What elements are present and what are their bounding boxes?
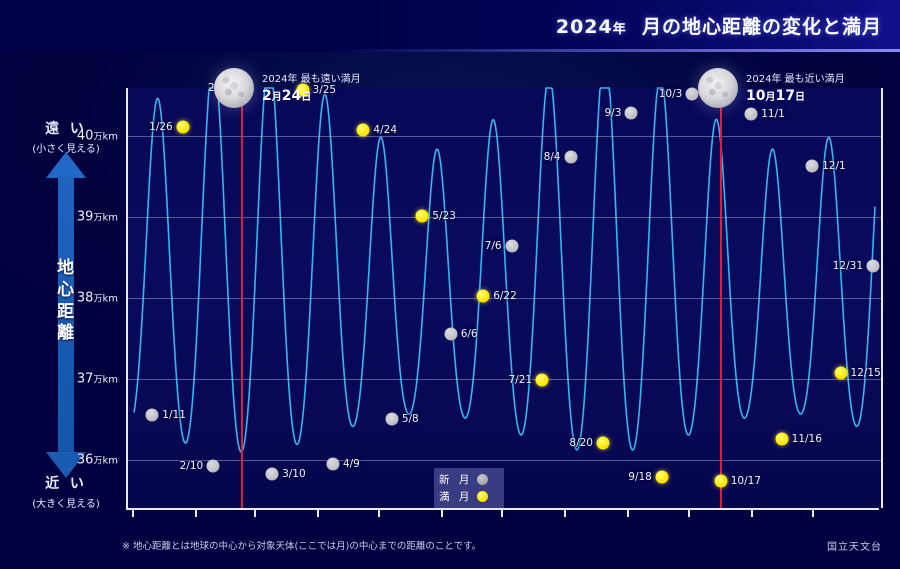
data-point-label: 4/24 [373, 124, 397, 136]
callout-month-num: 2 [262, 88, 272, 104]
full-moon-point[interactable] [536, 374, 549, 387]
chart-legend: 新 月 満 月 [434, 468, 504, 508]
callout-desc: 最も近い満月 [781, 74, 844, 85]
full-moon-point[interactable] [477, 289, 490, 302]
data-point-label: 5/8 [402, 413, 419, 425]
new-moon-point[interactable] [867, 259, 880, 272]
data-point-label: 5/23 [432, 210, 456, 222]
new-moon-point[interactable] [266, 468, 279, 481]
moon-icon [214, 68, 254, 108]
footnote-text: ※ 地心距離とは地球の中心から対象天体(ここでは月)の中心までの距離のことです。 [122, 538, 481, 552]
new-moon-point[interactable] [207, 460, 220, 473]
new-moon-point[interactable] [806, 160, 819, 173]
callout-month-num: 10 [746, 88, 765, 104]
data-point-label: 4/9 [343, 458, 360, 470]
new-moon-point[interactable] [385, 413, 398, 426]
full-moon-point[interactable] [596, 436, 609, 449]
new-moon-point[interactable] [745, 107, 758, 120]
full-moon-point[interactable] [714, 475, 727, 488]
callout-text: 2024年 最も遠い満月 2月24日 [262, 70, 361, 104]
vertical-marker-line [720, 100, 722, 508]
data-point-label: 1/11 [162, 409, 186, 421]
data-point-label: 8/20 [569, 437, 593, 449]
new-moon-point[interactable] [146, 409, 159, 422]
new-moon-point[interactable] [444, 328, 457, 341]
legend-item-full-moon: 満 月 [439, 489, 499, 504]
full-moon-point[interactable] [357, 124, 370, 137]
callout-desc: 最も遠い満月 [297, 74, 360, 85]
callout-day-num: 17 [775, 88, 794, 104]
data-point-label: 10/17 [731, 475, 761, 487]
data-point-label: 8/4 [544, 151, 561, 163]
data-point-label: 6/6 [461, 328, 478, 340]
data-point-label: 11/16 [792, 433, 822, 445]
data-point-label: 10/3 [659, 88, 683, 100]
data-point-label: 9/18 [628, 471, 652, 483]
callout-day-kanji: 日 [795, 92, 805, 103]
callout-date: 10月17日 [746, 88, 845, 104]
data-point-label: 12/31 [833, 260, 863, 272]
full-moon-point[interactable] [834, 367, 847, 380]
callout-day-kanji: 日 [301, 92, 311, 103]
callout-text: 2024年 最も近い満月 10月17日 [746, 70, 845, 104]
credit-text: 国立天文台 [827, 538, 882, 553]
full-moon-dot-icon [477, 491, 488, 502]
data-point-label: 11/1 [761, 108, 785, 120]
data-point-label: 7/6 [485, 240, 502, 252]
legend-item-new-moon: 新 月 [439, 472, 499, 487]
callout-line1: 2024年 最も遠い満月 [262, 70, 361, 85]
data-point-label: 12/1 [822, 160, 846, 172]
data-point-label: 6/22 [493, 290, 517, 302]
full-moon-point[interactable] [416, 209, 429, 222]
callout-month-kanji: 月 [272, 92, 282, 103]
data-point-label: 1/26 [149, 121, 173, 133]
new-moon-point[interactable] [625, 107, 638, 120]
callout-date: 2月24日 [262, 88, 361, 104]
legend-full-moon-label: 満 月 [439, 489, 472, 504]
new-moon-point[interactable] [326, 457, 339, 470]
legend-new-moon-label: 新 月 [439, 472, 472, 487]
data-point-label: 3/10 [282, 468, 306, 480]
new-moon-point[interactable] [505, 239, 518, 252]
full-moon-point[interactable] [655, 471, 668, 484]
full-moon-point[interactable] [176, 120, 189, 133]
new-moon-point[interactable] [564, 150, 577, 163]
new-moon-dot-icon [477, 474, 488, 485]
moon-icon [698, 68, 738, 108]
new-moon-point[interactable] [686, 88, 699, 101]
callout-line1: 2024年 最も近い満月 [746, 70, 845, 85]
vertical-marker-line [241, 100, 243, 508]
callout-day-num: 24 [282, 88, 301, 104]
full-moon-point[interactable] [775, 433, 788, 446]
data-point-label: 7/21 [508, 374, 532, 386]
data-point-label: 2/10 [180, 460, 204, 472]
callout-month-kanji: 月 [765, 92, 775, 103]
data-point-label: 9/3 [605, 107, 622, 119]
data-point-label: 12/15 [851, 367, 881, 379]
callout-year: 2024年 [746, 74, 781, 85]
callout-year: 2024年 [262, 74, 297, 85]
